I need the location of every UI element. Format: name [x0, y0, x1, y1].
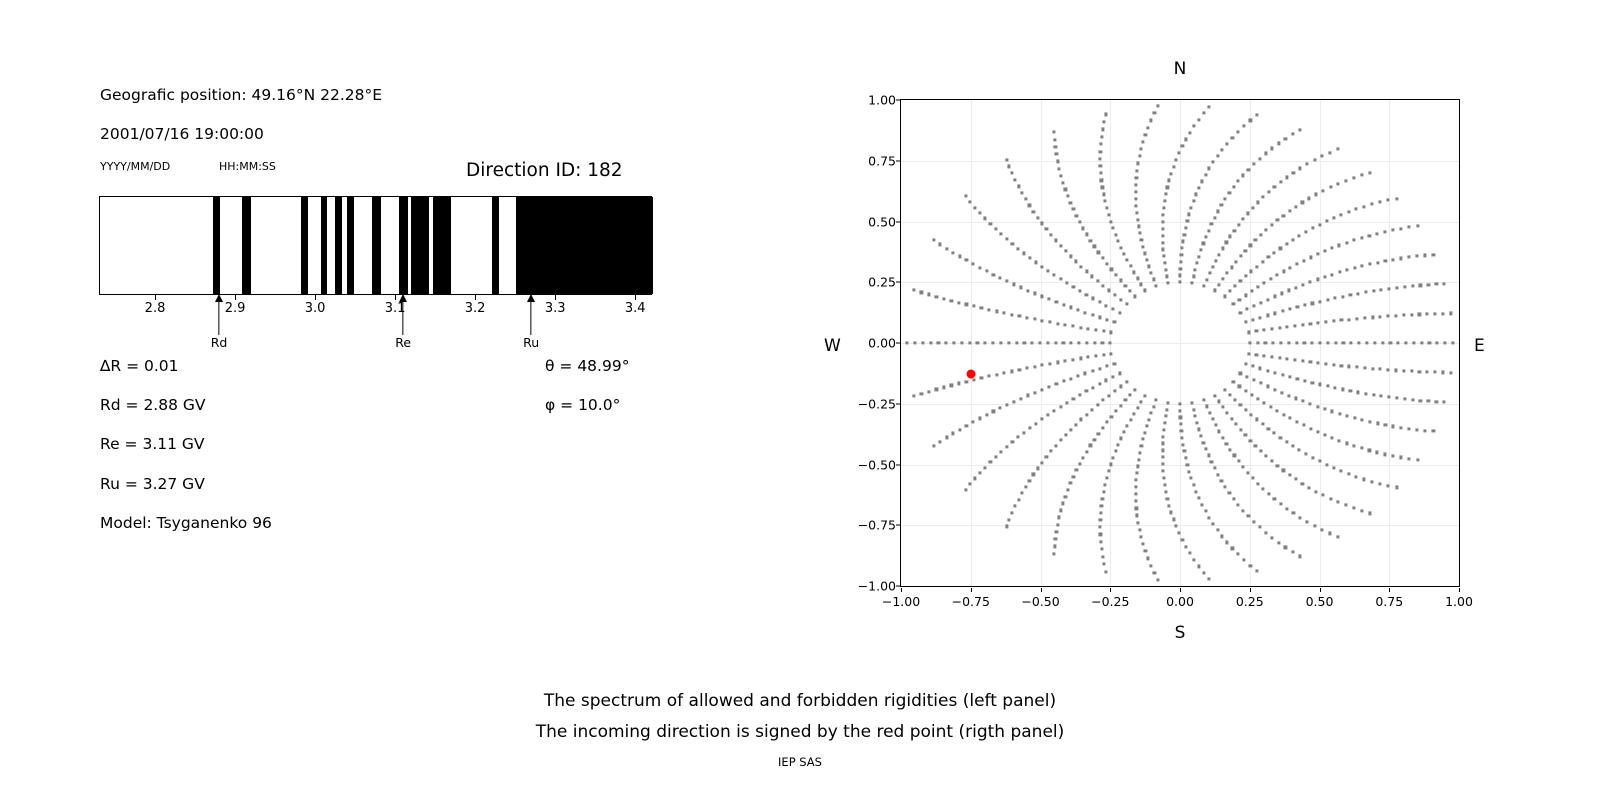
direction-dot [1199, 248, 1202, 251]
direction-dot [1303, 379, 1306, 382]
direction-dot [1341, 388, 1344, 391]
direction-dot [1161, 449, 1164, 452]
direction-dot [1072, 286, 1075, 289]
direction-dot [1028, 479, 1031, 482]
direction-dot [1113, 362, 1116, 365]
direction-dot [1443, 282, 1446, 285]
direction-dot [1010, 313, 1013, 316]
direction-dot [1318, 460, 1321, 463]
direction-dot [1349, 293, 1352, 296]
direction-dot [1104, 570, 1107, 573]
y-tick-mark [896, 464, 900, 465]
direction-dot [1008, 518, 1011, 521]
direction-dot [1329, 497, 1332, 500]
direction-dot [1055, 530, 1058, 533]
direction-dot [1094, 354, 1097, 357]
direction-dot [1293, 359, 1296, 362]
direction-dot [1256, 482, 1259, 485]
param-delta-r: ∆R = 0.01 [100, 357, 179, 375]
direction-dot [1232, 380, 1235, 383]
direction-dot [1188, 131, 1191, 134]
y-tick-mark [896, 221, 900, 222]
direction-dot [1105, 207, 1108, 210]
forbidden-band [301, 197, 308, 294]
direction-dot [1262, 329, 1265, 332]
direction-dot [1114, 233, 1117, 236]
direction-dot [1129, 290, 1132, 293]
direction-dot [1344, 504, 1347, 507]
direction-dot [1110, 331, 1113, 334]
caption-line-1: The spectrum of allowed and forbidden ri… [0, 686, 1600, 717]
direction-dot [1099, 143, 1102, 146]
direction-dot [1411, 398, 1414, 401]
direction-dot [1317, 361, 1320, 364]
direction-dot [979, 471, 982, 474]
direction-dot [1055, 300, 1058, 303]
direction-dot [1363, 366, 1366, 369]
direction-dot [1226, 142, 1229, 145]
direction-dot [1214, 424, 1217, 427]
direction-dot [1046, 413, 1049, 416]
direction-dot [1361, 418, 1364, 421]
direction-dot [1451, 341, 1454, 344]
direction-dot [1322, 189, 1325, 192]
direction-dot [1239, 403, 1242, 406]
direction-dot [971, 420, 974, 423]
direction-dot [1267, 492, 1270, 495]
direction-dot [1107, 394, 1110, 397]
direction-dot [1175, 158, 1178, 161]
direction-dot [1221, 247, 1224, 250]
direction-dot [1069, 306, 1072, 309]
direction-dot [1318, 383, 1321, 386]
direction-dot [1181, 247, 1184, 250]
direction-dot [1018, 315, 1021, 318]
direction-dot [1162, 213, 1165, 216]
direction-dot [1433, 312, 1436, 315]
direction-dot [1441, 371, 1444, 374]
direction-dot [1340, 319, 1343, 322]
direction-dot [1224, 198, 1227, 201]
direction-dot [1358, 341, 1361, 344]
direction-dot [1336, 182, 1339, 185]
direction-dot [1226, 411, 1229, 414]
gridline-horizontal [901, 161, 1459, 162]
direction-dot [1347, 210, 1350, 213]
x-tick-mark [971, 588, 972, 592]
direction-dot [1099, 511, 1102, 514]
direction-dot [1221, 148, 1224, 151]
direction-dot [1295, 420, 1298, 423]
direction-dot [1340, 213, 1343, 216]
direction-dot [1099, 150, 1102, 153]
direction-dot [1064, 323, 1067, 326]
direction-dot [1299, 555, 1302, 558]
direction-dot [1065, 282, 1068, 285]
direction-dot [1056, 160, 1059, 163]
direction-dot [1395, 397, 1398, 400]
direction-dot [1234, 285, 1237, 288]
direction-dot [1033, 391, 1036, 394]
direction-dot [1376, 261, 1379, 264]
direction-dot [1370, 480, 1373, 483]
direction-dot [1078, 289, 1081, 292]
direction-dot [1397, 341, 1400, 344]
direction-dot [978, 417, 981, 420]
direction-dot [1294, 205, 1297, 208]
direction-dot [1075, 469, 1078, 472]
direction-dot [1099, 533, 1102, 536]
direction-dot [1323, 250, 1326, 253]
direction-dot [1109, 463, 1112, 466]
direction-dot [1101, 128, 1104, 131]
direction-dot [1279, 247, 1282, 250]
direction-dot [1003, 311, 1006, 314]
direction-dot [1024, 198, 1027, 201]
direction-dot [1126, 259, 1129, 262]
direction-dot [1208, 411, 1211, 414]
direction-map-plot-area [900, 99, 1460, 587]
direction-dot [1155, 398, 1158, 401]
direction-dot [1223, 388, 1226, 391]
direction-dot [1242, 509, 1245, 512]
direction-dot [1221, 277, 1224, 280]
direction-dot [1252, 163, 1255, 166]
x-tick-label: −0.50 [1021, 594, 1059, 609]
direction-dot [1181, 145, 1184, 148]
direction-dot [1038, 341, 1041, 344]
direction-dot [1244, 275, 1247, 278]
direction-dot [1289, 417, 1292, 420]
direction-dot [1231, 136, 1234, 139]
direction-dot [1152, 405, 1155, 408]
direction-dot [1418, 313, 1421, 316]
direction-dot [1111, 227, 1114, 230]
arrow-head-icon [399, 294, 407, 302]
direction-dot [1140, 444, 1143, 447]
arrow-head-icon [215, 294, 223, 302]
direction-dot [1000, 233, 1003, 236]
direction-dot [1346, 269, 1349, 272]
direction-dot [1184, 138, 1187, 141]
direction-dot [1277, 142, 1280, 145]
direction-dot [1371, 316, 1374, 319]
direction-dot [1072, 475, 1075, 478]
direction-dot [1318, 300, 1321, 303]
direction-dot [1036, 467, 1039, 470]
direction-dot [1161, 456, 1164, 459]
direction-dot [1330, 247, 1333, 250]
direction-dot [1193, 558, 1196, 561]
direction-dot [1136, 169, 1139, 172]
direction-dot [1188, 552, 1191, 555]
direction-dot [1118, 311, 1121, 314]
direction-dot [1436, 341, 1439, 344]
direction-dot [1085, 270, 1088, 273]
direction-dot [1408, 256, 1411, 259]
direction-dot [1162, 207, 1165, 210]
direction-dot [1165, 275, 1168, 278]
gridline-horizontal [901, 525, 1459, 526]
direction-dot [1316, 405, 1319, 408]
direction-dot [1364, 392, 1367, 395]
direction-dot [1315, 490, 1318, 493]
direction-dot [1134, 183, 1137, 186]
direction-dot [1150, 271, 1153, 274]
direction-dot [1076, 374, 1079, 377]
direction-dot [1256, 285, 1259, 288]
direction-dot [1140, 400, 1143, 403]
direction-dot [1084, 372, 1087, 375]
direction-dot [1255, 418, 1258, 421]
direction-dot [1259, 301, 1262, 304]
direction-dot [1202, 242, 1205, 245]
direction-dot [1376, 232, 1379, 235]
direction-dot [1202, 441, 1205, 444]
direction-dot [1064, 250, 1067, 253]
direction-dot [1244, 408, 1247, 411]
direction-dot [964, 194, 967, 197]
direction-dot [1316, 430, 1319, 433]
direction-dot [1360, 236, 1363, 239]
direction-dot [1338, 412, 1341, 415]
direction-dot [1053, 545, 1056, 548]
direction-dot [1309, 256, 1312, 259]
direction-dot [1166, 282, 1169, 285]
direction-dot [1107, 213, 1110, 216]
direction-dot [994, 227, 997, 230]
direction-dot [1213, 467, 1216, 470]
direction-dot [1387, 396, 1390, 399]
direction-dot [1015, 341, 1018, 344]
direction-dot [1228, 491, 1231, 494]
direction-dot [945, 341, 948, 344]
x-tick-mark [901, 588, 902, 592]
direction-dot [1136, 465, 1139, 468]
direction-dot [1210, 460, 1213, 463]
direction-dot [1163, 421, 1166, 424]
direction-dot [1392, 258, 1395, 261]
direction-dot [1246, 308, 1249, 311]
forbidden-band [399, 197, 408, 294]
direction-dot [1254, 444, 1257, 447]
direction-dot [1424, 429, 1427, 432]
direction-dot [1234, 260, 1237, 263]
direction-dot [1094, 328, 1097, 331]
direction-dot [971, 262, 974, 265]
param-rd: Rd = 2.88 GV [100, 396, 206, 414]
direction-dot [1264, 341, 1267, 344]
direction-dot [1250, 270, 1253, 273]
direction-dot [1416, 428, 1419, 431]
direction-dot [1113, 293, 1116, 296]
direction-dot [1053, 138, 1056, 141]
direction-dot [1205, 278, 1208, 281]
direction-dot [1352, 239, 1355, 242]
direction-dot [1005, 525, 1008, 528]
direction-dot [1261, 260, 1264, 263]
direction-dot [1161, 227, 1164, 230]
direction-dot [1180, 429, 1183, 432]
incoming-direction-point[interactable] [966, 370, 975, 379]
direction-dot [1147, 265, 1150, 268]
gridline-horizontal [901, 222, 1459, 223]
direction-dot [1308, 197, 1311, 200]
direction-dot [1205, 405, 1208, 408]
direction-dot [999, 341, 1002, 344]
direction-dot [1265, 228, 1268, 231]
direction-dot [1062, 380, 1065, 383]
direction-dot [1217, 400, 1220, 403]
direction-dot [1188, 213, 1191, 216]
direction-dot [1028, 426, 1031, 429]
direction-dot [1266, 385, 1269, 388]
direction-dot [1229, 448, 1232, 451]
direction-dot [1053, 274, 1056, 277]
direction-dot [1134, 493, 1137, 496]
direction-dot [1267, 256, 1270, 259]
direction-dot [920, 291, 923, 294]
direction-dot [1197, 186, 1200, 189]
direction-dot [1020, 191, 1023, 194]
direction-dot [1308, 486, 1311, 489]
direction-dot [1145, 424, 1148, 427]
direction-dot [1144, 133, 1147, 136]
compass-label-west: W [824, 336, 841, 356]
direction-dot [1099, 540, 1102, 543]
direction-dot [1192, 275, 1195, 278]
direction-dot [1303, 304, 1306, 307]
direction-dot [1012, 400, 1015, 403]
direction-dot [1293, 324, 1296, 327]
direction-dot [1179, 274, 1182, 277]
direction-dot [1244, 389, 1247, 392]
direction-dot [1299, 128, 1302, 131]
direction-dot [1091, 386, 1094, 389]
direction-dot [1053, 409, 1056, 412]
direction-dot [1291, 238, 1294, 241]
direction-dot [1311, 302, 1314, 305]
y-tick-mark [896, 100, 900, 101]
direction-dot [1181, 538, 1184, 541]
direction-dot [1336, 501, 1339, 504]
direction-dot [1080, 418, 1083, 421]
direction-dot [1170, 511, 1173, 514]
direction-dot [1026, 289, 1029, 292]
direction-dot [912, 394, 915, 397]
direction-dot [994, 455, 997, 458]
x-tick-label: 1.00 [1445, 594, 1473, 609]
direction-dot [1323, 433, 1326, 436]
direction-dot [1041, 364, 1044, 367]
direction-dot [1244, 362, 1247, 365]
arrow-label: Ru [523, 335, 539, 350]
direction-dot [1084, 311, 1087, 314]
geographic-position-text: Geografic position: 49.16°N 22.28°E [100, 86, 382, 104]
direction-dot [913, 341, 916, 344]
direction-dot [1195, 421, 1198, 424]
direction-dot [1330, 436, 1333, 439]
direction-dot [1267, 427, 1270, 430]
direction-dot [1294, 397, 1297, 400]
direction-dot [1336, 148, 1339, 151]
direction-dot [1036, 216, 1039, 219]
direction-dot [1186, 220, 1189, 223]
direction-dot [1097, 251, 1100, 254]
direction-dot [1019, 286, 1022, 289]
direction-dot [1233, 229, 1236, 232]
direction-dot [1184, 545, 1187, 548]
direction-dot [1123, 252, 1126, 255]
direction-dot [1137, 225, 1140, 228]
direction-dot [1182, 443, 1185, 446]
direction-dot [1195, 490, 1198, 493]
direction-dot [1318, 341, 1321, 344]
direction-dot [958, 428, 961, 431]
direction-dot [1352, 444, 1355, 447]
x-tick-mark [1041, 588, 1042, 592]
direction-dot [1193, 125, 1196, 128]
direction-dot [999, 407, 1002, 410]
direction-dot [1071, 358, 1074, 361]
direction-dot [1361, 264, 1364, 267]
direction-dot [1069, 482, 1072, 485]
direction-dot [1179, 409, 1182, 412]
direction-dot [1269, 277, 1272, 280]
direction-dot [935, 295, 938, 298]
direction-dot [1000, 450, 1003, 453]
direction-dot [1379, 368, 1382, 371]
direction-dot [1091, 297, 1094, 300]
direction-dot [1105, 421, 1108, 424]
direction-dot [1220, 204, 1223, 207]
direction-dot [1273, 432, 1276, 435]
direction-dot [1296, 377, 1299, 380]
compass-label-north: N [1174, 59, 1187, 79]
direction-dot [1313, 524, 1316, 527]
direction-dot [1141, 438, 1144, 441]
direction-dot [1028, 204, 1031, 207]
direction-dot [1392, 425, 1395, 428]
direction-dot [1132, 412, 1135, 415]
direction-dot [1134, 500, 1137, 503]
y-tick-mark [896, 403, 900, 404]
direction-dot [1338, 271, 1341, 274]
direction-dot [1058, 516, 1061, 519]
direction-dot [1334, 341, 1337, 344]
direction-dot [1267, 190, 1270, 193]
direction-dot [1360, 509, 1363, 512]
direction-dot [1344, 179, 1347, 182]
direction-dot [1199, 434, 1202, 437]
direction-dot [972, 305, 975, 308]
direction-dot [1211, 417, 1214, 420]
direction-dot [1089, 444, 1092, 447]
direction-dot [1427, 400, 1430, 403]
direction-dot [1025, 316, 1028, 319]
x-tick-label: −0.75 [952, 594, 990, 609]
direction-dot [1287, 394, 1290, 397]
direction-dot [978, 266, 981, 269]
direction-dot [1291, 132, 1294, 135]
direction-dot [1247, 331, 1250, 334]
direction-dot [1138, 451, 1141, 454]
direction-dot [1175, 525, 1178, 528]
param-phi: φ = 10.0° [545, 396, 620, 414]
direction-dot [1449, 371, 1452, 374]
direction-dot [1143, 431, 1146, 434]
direction-dot [1355, 317, 1358, 320]
